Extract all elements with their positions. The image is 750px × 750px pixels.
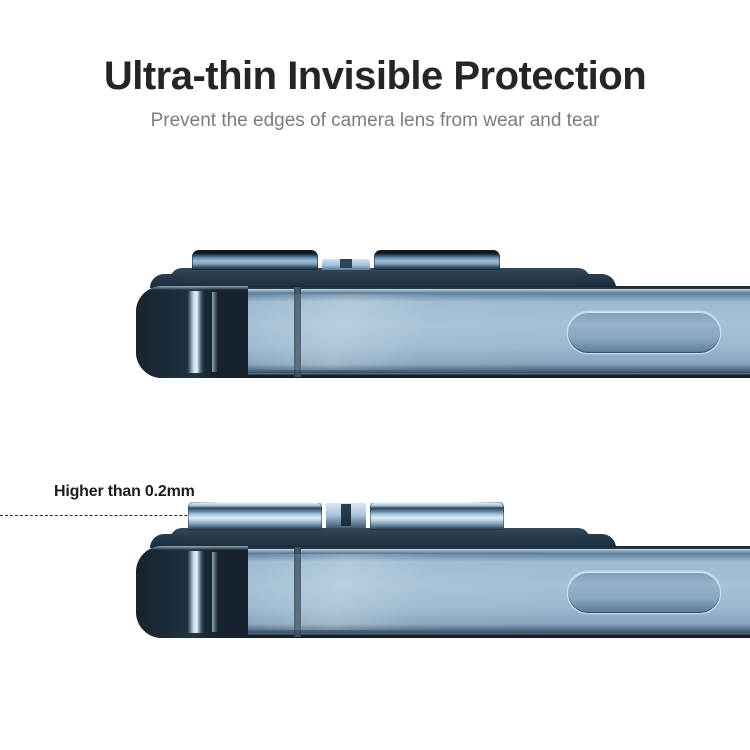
corner-specular-highlight bbox=[188, 291, 204, 373]
phone-rounded-corner bbox=[136, 286, 248, 378]
corner-specular-highlight bbox=[188, 551, 204, 633]
lens-protector-ring-1 bbox=[188, 502, 322, 530]
flash-module-notch bbox=[341, 504, 351, 526]
corner-specular-highlight-secondary bbox=[212, 552, 218, 632]
product-marketing-image: Ultra-thin Invisible Protection Prevent … bbox=[0, 0, 750, 750]
antenna-band bbox=[294, 287, 301, 377]
corner-top-edge bbox=[136, 286, 248, 290]
page-subtitle: Prevent the edges of camera lens from we… bbox=[0, 110, 750, 133]
antenna-band bbox=[294, 547, 301, 637]
corner-specular-highlight-secondary bbox=[212, 292, 218, 372]
side-button bbox=[568, 572, 720, 613]
protector-top-lip bbox=[188, 501, 504, 503]
phone-view-without-protector bbox=[136, 248, 750, 398]
lens-protector-ring-2 bbox=[370, 502, 504, 530]
side-button bbox=[568, 312, 720, 353]
camera-lens-ring-1 bbox=[192, 250, 318, 270]
camera-lens-ring-2 bbox=[374, 250, 500, 270]
corner-top-edge bbox=[136, 546, 248, 550]
phone-rounded-corner bbox=[136, 546, 248, 638]
page-title: Ultra-thin Invisible Protection bbox=[0, 54, 750, 98]
flash-module-notch bbox=[340, 259, 352, 268]
callout-label: Higher than 0.2mm bbox=[54, 483, 195, 501]
phone-view-with-protector bbox=[136, 508, 750, 658]
